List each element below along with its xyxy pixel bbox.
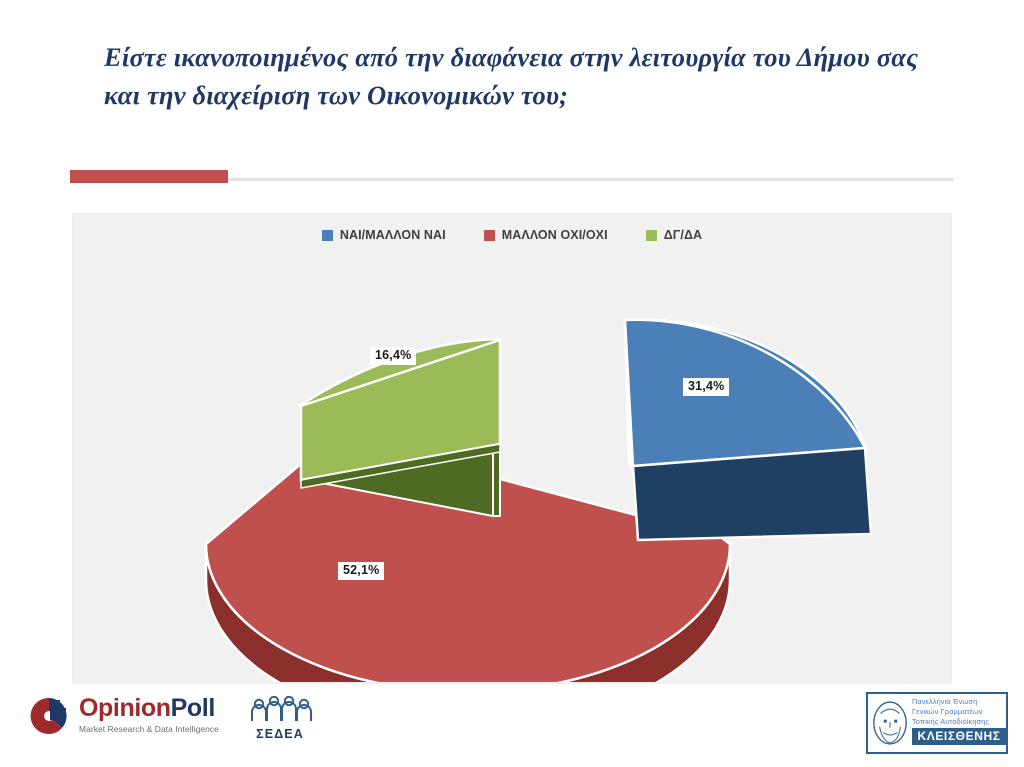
philosopher-head-icon <box>871 698 909 748</box>
pie-chart: 16,4% 31,4% 52,1% <box>73 254 953 682</box>
legend-swatch-red-icon <box>484 230 495 241</box>
data-label-green: 16,4% <box>370 347 416 365</box>
legend-label-nai: ΝΑΙ/ΜΑΛΛΟΝ ΝΑΙ <box>340 228 446 242</box>
kleisthenis-band: ΚΛΕΙΣΘΕΝΗΣ <box>912 728 1006 745</box>
opinionpoll-tagline: Market Research & Data Intelligence <box>79 724 219 734</box>
title-divider <box>70 170 954 184</box>
page-title: Είστε ικανοποιημένος από την διαφάνεια σ… <box>104 38 924 115</box>
kleisthenis-line2: Γενικών Γραμματέων <box>912 707 1006 717</box>
legend-item-dgda[interactable]: ΔΓ/ΔΑ <box>646 228 702 242</box>
pie-chart-svg <box>73 254 953 682</box>
opinionpoll-name-part2: Poll <box>171 694 215 722</box>
legend-label-dgda: ΔΓ/ΔΑ <box>664 228 702 242</box>
sedea-people-icon <box>243 696 317 726</box>
accent-bar <box>70 170 228 183</box>
sedea-name: ΣΕΔΕΑ <box>243 727 317 741</box>
opinionpoll-name-part1: Opinion <box>79 694 171 722</box>
kleisthenis-logo: Πανελλήνια Ένωση Γενικών Γραμματέων Τοπι… <box>866 692 1008 754</box>
footer: OpinionPoll Market Research & Data Intel… <box>0 688 1024 767</box>
legend-swatch-green-icon <box>646 230 657 241</box>
opinionpoll-mark-icon <box>28 694 70 736</box>
chart-legend: ΝΑΙ/ΜΑΛΛΟΝ ΝΑΙ ΜΑΛΛΟΝ ΟΧΙ/ΟΧΙ ΔΓ/ΔΑ <box>73 228 951 242</box>
pie-slice-blue-shape <box>625 320 871 540</box>
sedea-logo: ΣΕΔΕΑ <box>243 696 317 741</box>
kleisthenis-text: Πανελλήνια Ένωση Γενικών Γραμματέων Τοπι… <box>912 694 1006 752</box>
data-label-blue: 31,4% <box>683 378 729 396</box>
opinionpoll-name: OpinionPoll <box>79 696 219 721</box>
legend-item-oxi[interactable]: ΜΑΛΛΟΝ ΟΧΙ/ΟΧΙ <box>484 228 608 242</box>
legend-swatch-blue-icon <box>322 230 333 241</box>
kleisthenis-line1: Πανελλήνια Ένωση <box>912 697 1006 707</box>
kleisthenis-line3: Τοπικής Αυτοδιοίκησης <box>912 717 1006 727</box>
opinionpoll-logo: OpinionPoll Market Research & Data Intel… <box>28 694 219 736</box>
legend-label-oxi: ΜΑΛΛΟΝ ΟΧΙ/ΟΧΙ <box>502 228 608 242</box>
legend-item-nai[interactable]: ΝΑΙ/ΜΑΛΛΟΝ ΝΑΙ <box>322 228 446 242</box>
kleisthenis-portrait-icon <box>868 694 912 752</box>
chart-panel: ΝΑΙ/ΜΑΛΛΟΝ ΝΑΙ ΜΑΛΛΟΝ ΟΧΙ/ΟΧΙ ΔΓ/ΔΑ <box>72 213 952 684</box>
opinionpoll-text: OpinionPoll Market Research & Data Intel… <box>79 696 219 734</box>
divider-line <box>228 178 954 181</box>
data-label-red: 52,1% <box>338 562 384 580</box>
